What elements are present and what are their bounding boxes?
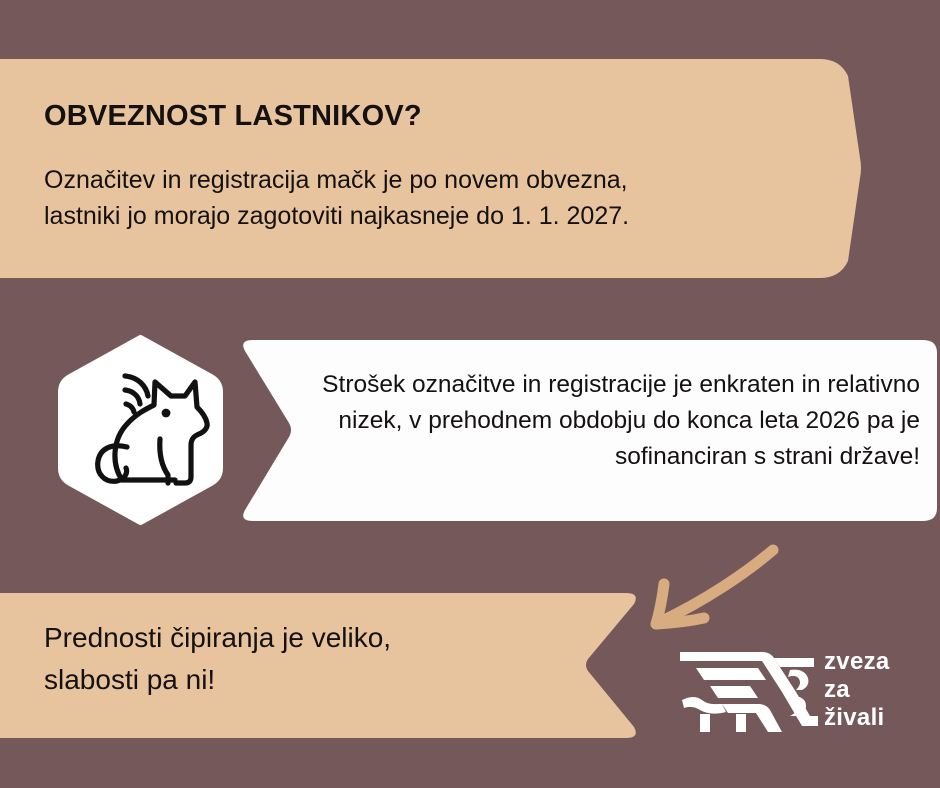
curved-arrow-icon [618, 538, 808, 653]
winged-animal-logo-mark [678, 644, 818, 736]
cat-microchip-icon [47, 335, 234, 525]
bottom-banner-body: Prednosti čipiranja je veliko, slabosti … [44, 617, 584, 701]
logo-line-2: za [824, 676, 890, 704]
top-banner-heading: OBVEZNOST LASTNIKOV? [44, 100, 804, 133]
infographic-poster: OBVEZNOST LASTNIKOV? Označitev in regist… [0, 0, 940, 788]
logo-line-3: živali [824, 704, 890, 732]
white-banner-body: Strošek označitve in registracije je enk… [310, 367, 920, 474]
logo-wordmark: zveza za živali [824, 648, 890, 733]
logo-line-1: zveza [824, 648, 890, 676]
organization-logo: zveza za živali [678, 640, 926, 740]
top-banner-body: Označitev in registracija mačk je po nov… [44, 163, 814, 234]
